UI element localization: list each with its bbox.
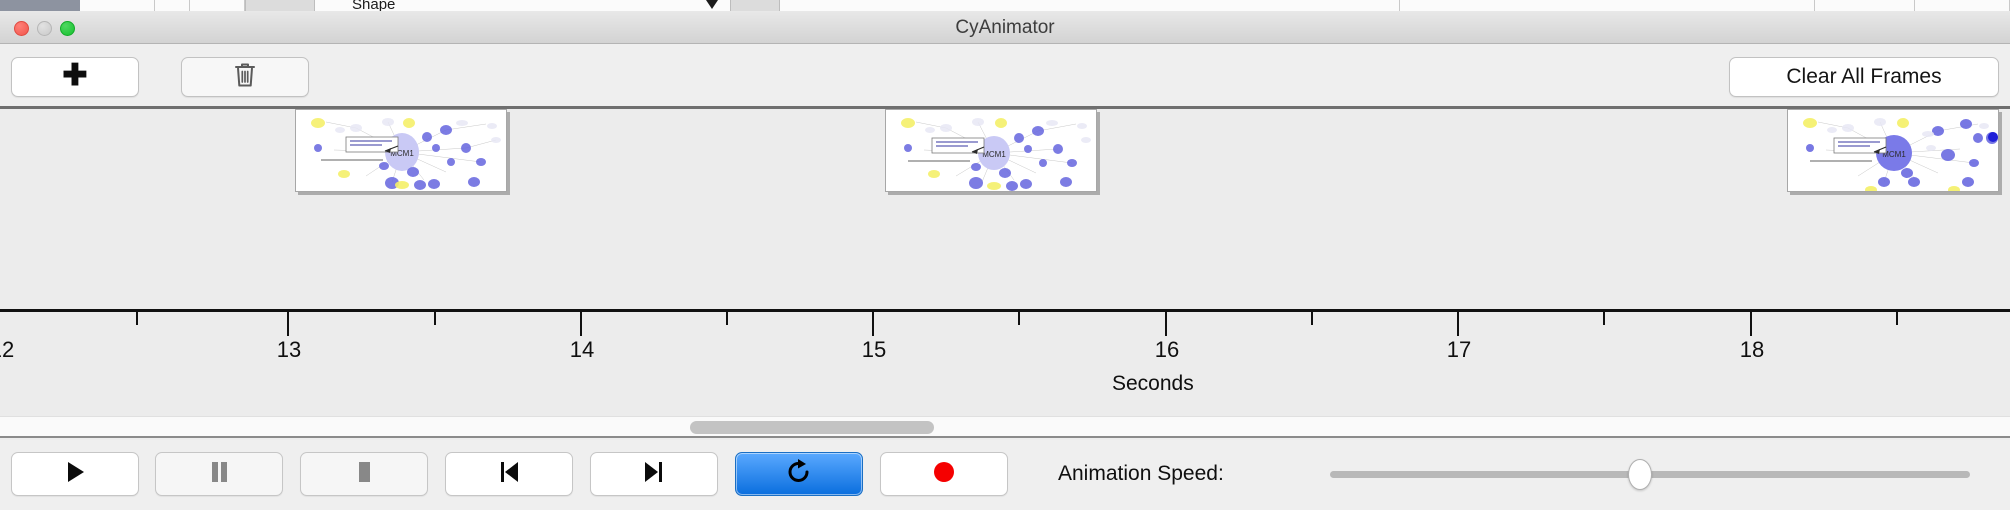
trash-icon — [233, 61, 257, 94]
ruler-tick-major — [1750, 312, 1752, 336]
window-titlebar: CyAnimator — [0, 11, 2010, 44]
ruler-tick-minor — [434, 312, 436, 325]
network-graph-preview: MCM1 — [1788, 110, 1999, 192]
slider-knob[interactable] — [1628, 459, 1652, 490]
loop-icon — [786, 458, 812, 491]
ruler-label: 16 — [1155, 337, 1179, 363]
network-graph-preview: MCM1 — [296, 110, 507, 192]
background-cell — [190, 0, 245, 11]
frame-thumbnail[interactable]: MCM1 — [885, 109, 1097, 192]
animation-speed-slider[interactable] — [1330, 471, 2010, 478]
background-cell — [315, 0, 1400, 11]
svg-text:MCM1: MCM1 — [982, 150, 1006, 159]
play-button[interactable] — [11, 452, 139, 496]
timeline-scrollbar[interactable] — [0, 416, 2010, 438]
background-window-strip: Shape — [0, 0, 2010, 11]
network-graph-preview: MCM1 — [886, 110, 1097, 192]
loop-button[interactable] — [735, 452, 863, 496]
background-tab — [245, 0, 315, 11]
pause-icon — [208, 459, 230, 490]
animation-speed-label: Animation Speed: — [1058, 462, 1224, 486]
ruler-label: 12 — [0, 337, 14, 363]
toolbar: ✚ Clear All Frames — [0, 44, 2010, 108]
ruler-tick-major — [580, 312, 582, 336]
background-caret-icon — [706, 0, 718, 9]
ruler-label: 14 — [570, 337, 594, 363]
ruler-tick-minor — [1018, 312, 1020, 325]
ruler-label: 18 — [1740, 337, 1764, 363]
frame-thumbnail[interactable]: MCM1 — [295, 109, 507, 192]
skip-end-button[interactable] — [590, 452, 718, 496]
delete-frame-button[interactable] — [181, 57, 309, 97]
ruler-tick-major — [1457, 312, 1459, 336]
ruler-tick-minor — [726, 312, 728, 325]
clear-all-frames-button[interactable]: Clear All Frames — [1729, 57, 1999, 97]
scrollbar-thumb[interactable] — [690, 421, 934, 434]
stop-button[interactable] — [300, 452, 428, 496]
background-cell — [1815, 0, 1915, 11]
frame-thumbnail[interactable]: MCM1 — [1787, 109, 1999, 192]
record-button[interactable] — [880, 452, 1008, 496]
record-icon — [931, 459, 957, 490]
skip-back-icon — [497, 459, 521, 490]
ruler-label: 15 — [862, 337, 886, 363]
ruler-axis-title: Seconds — [1112, 372, 1194, 396]
cyanimator-window: Shape CyAnimator ✚ — [0, 0, 2010, 510]
playback-bar: Animation Speed: — [0, 440, 2010, 510]
add-frame-button[interactable]: ✚ — [11, 57, 139, 97]
ruler-tick-major — [1165, 312, 1167, 336]
ruler-tick-major — [872, 312, 874, 336]
background-cell — [1400, 0, 1815, 11]
ruler-axis-line — [0, 309, 2010, 312]
timeline-ruler[interactable]: 12 13 14 15 16 17 18 Seconds — [0, 309, 2010, 409]
ruler-tick-minor — [1896, 312, 1898, 325]
ruler-tick-major — [287, 312, 289, 336]
background-tab — [730, 0, 780, 11]
pause-button[interactable] — [155, 452, 283, 496]
background-window-titlebar — [0, 0, 80, 11]
ruler-label: 17 — [1447, 337, 1471, 363]
window-title: CyAnimator — [0, 11, 2010, 44]
clear-all-frames-label: Clear All Frames — [1786, 65, 1941, 89]
ruler-label: 13 — [277, 337, 301, 363]
skip-start-button[interactable] — [445, 452, 573, 496]
ruler-tick-minor — [136, 312, 138, 325]
stop-icon — [353, 459, 375, 490]
background-cell — [155, 0, 190, 11]
play-icon — [63, 459, 87, 490]
background-cell — [1915, 0, 2010, 11]
background-window-word: Shape — [352, 0, 395, 11]
background-cell — [80, 0, 155, 11]
ruler-tick-minor — [1311, 312, 1313, 325]
ruler-tick-minor — [1603, 312, 1605, 325]
skip-forward-icon — [642, 459, 666, 490]
